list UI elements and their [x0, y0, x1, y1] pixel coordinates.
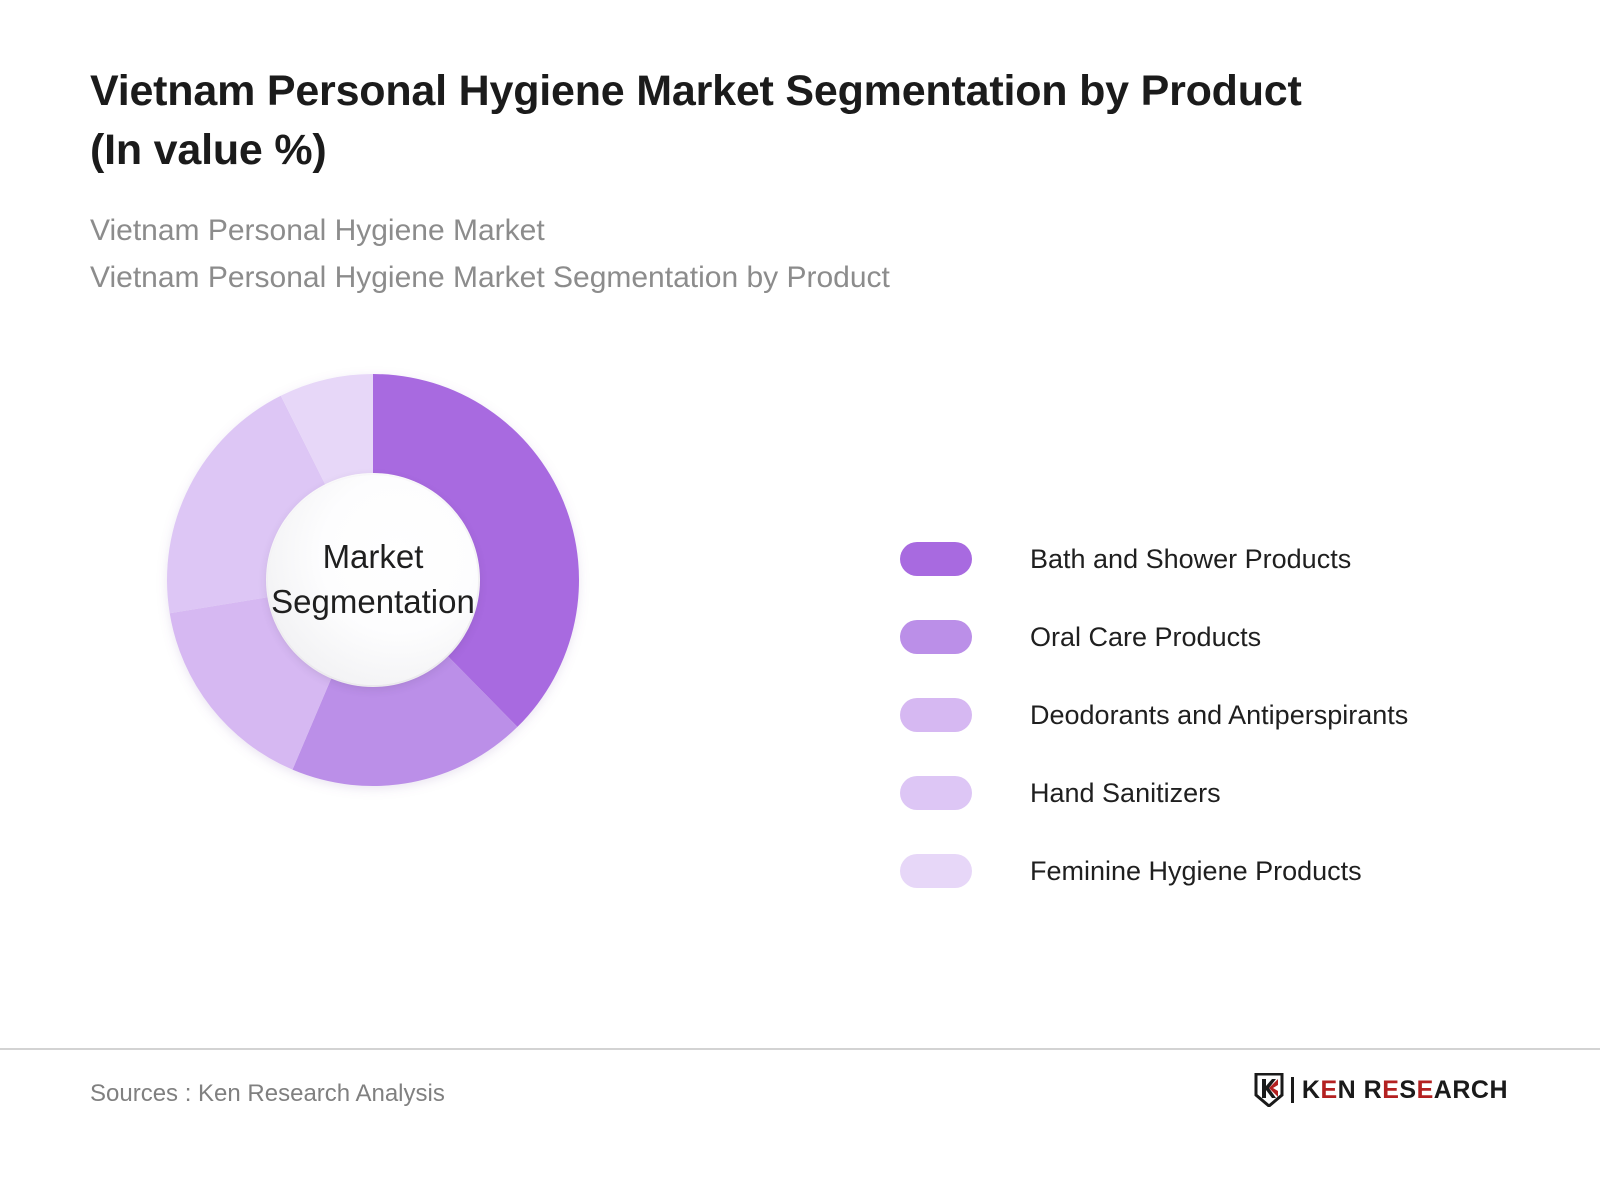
legend-label: Bath and Shower Products [1030, 544, 1351, 575]
legend-item[interactable]: Hand Sanitizers [900, 754, 1540, 832]
brand-letter-e1: E [1320, 1076, 1337, 1104]
brand-letter-e3: E [1417, 1076, 1434, 1104]
brand-letter-e2: E [1382, 1076, 1399, 1104]
chart-page: Vietnam Personal Hygiene Market Segmenta… [0, 0, 1600, 1200]
legend-label: Hand Sanitizers [1030, 778, 1221, 809]
legend-swatch [900, 854, 972, 888]
legend-item[interactable]: Bath and Shower Products [900, 520, 1540, 598]
header: Vietnam Personal Hygiene Market Segmenta… [90, 62, 1430, 301]
hub-line-2: Segmentation [271, 580, 475, 625]
donut-chart: Bath and Shower Products 37.6%Oral Care … [163, 370, 583, 790]
legend-label: Deodorants and Antiperspirants [1030, 700, 1408, 731]
legend-swatch [900, 776, 972, 810]
legend-swatch [900, 542, 972, 576]
donut-center-hub: Market Segmentation [268, 475, 478, 685]
logo-divider [1291, 1077, 1294, 1103]
subtitle-block: Vietnam Personal Hygiene Market Vietnam … [90, 207, 1430, 302]
legend-item[interactable]: Oral Care Products [900, 598, 1540, 676]
brand-letter-s: S [1399, 1076, 1416, 1104]
brand-letters-nr: N R [1338, 1076, 1383, 1104]
brand-wordmark: KEN RESEARCH [1302, 1076, 1508, 1105]
ken-research-shield-icon [1254, 1073, 1284, 1107]
footer: Sources : Ken Research Analysis KEN RESE… [0, 1050, 1600, 1200]
subtitle-line-1: Vietnam Personal Hygiene Market [90, 207, 1430, 254]
chart-legend: Bath and Shower ProductsOral Care Produc… [900, 520, 1540, 910]
hub-line-1: Market [323, 535, 424, 580]
legend-swatch [900, 698, 972, 732]
brand-letter-k: K [1302, 1076, 1321, 1104]
legend-swatch [900, 620, 972, 654]
brand-letters-arch: ARCH [1434, 1076, 1508, 1104]
chart-area: Bath and Shower Products 37.6%Oral Care … [0, 340, 1600, 1020]
page-title: Vietnam Personal Hygiene Market Segmenta… [90, 62, 1360, 181]
ken-research-logo: KEN RESEARCH [1254, 1073, 1508, 1107]
legend-label: Oral Care Products [1030, 622, 1261, 653]
legend-item[interactable]: Feminine Hygiene Products [900, 832, 1540, 910]
legend-label: Feminine Hygiene Products [1030, 856, 1362, 887]
legend-item[interactable]: Deodorants and Antiperspirants [900, 676, 1540, 754]
subtitle-line-2: Vietnam Personal Hygiene Market Segmenta… [90, 254, 1430, 301]
source-note: Sources : Ken Research Analysis [90, 1080, 445, 1108]
